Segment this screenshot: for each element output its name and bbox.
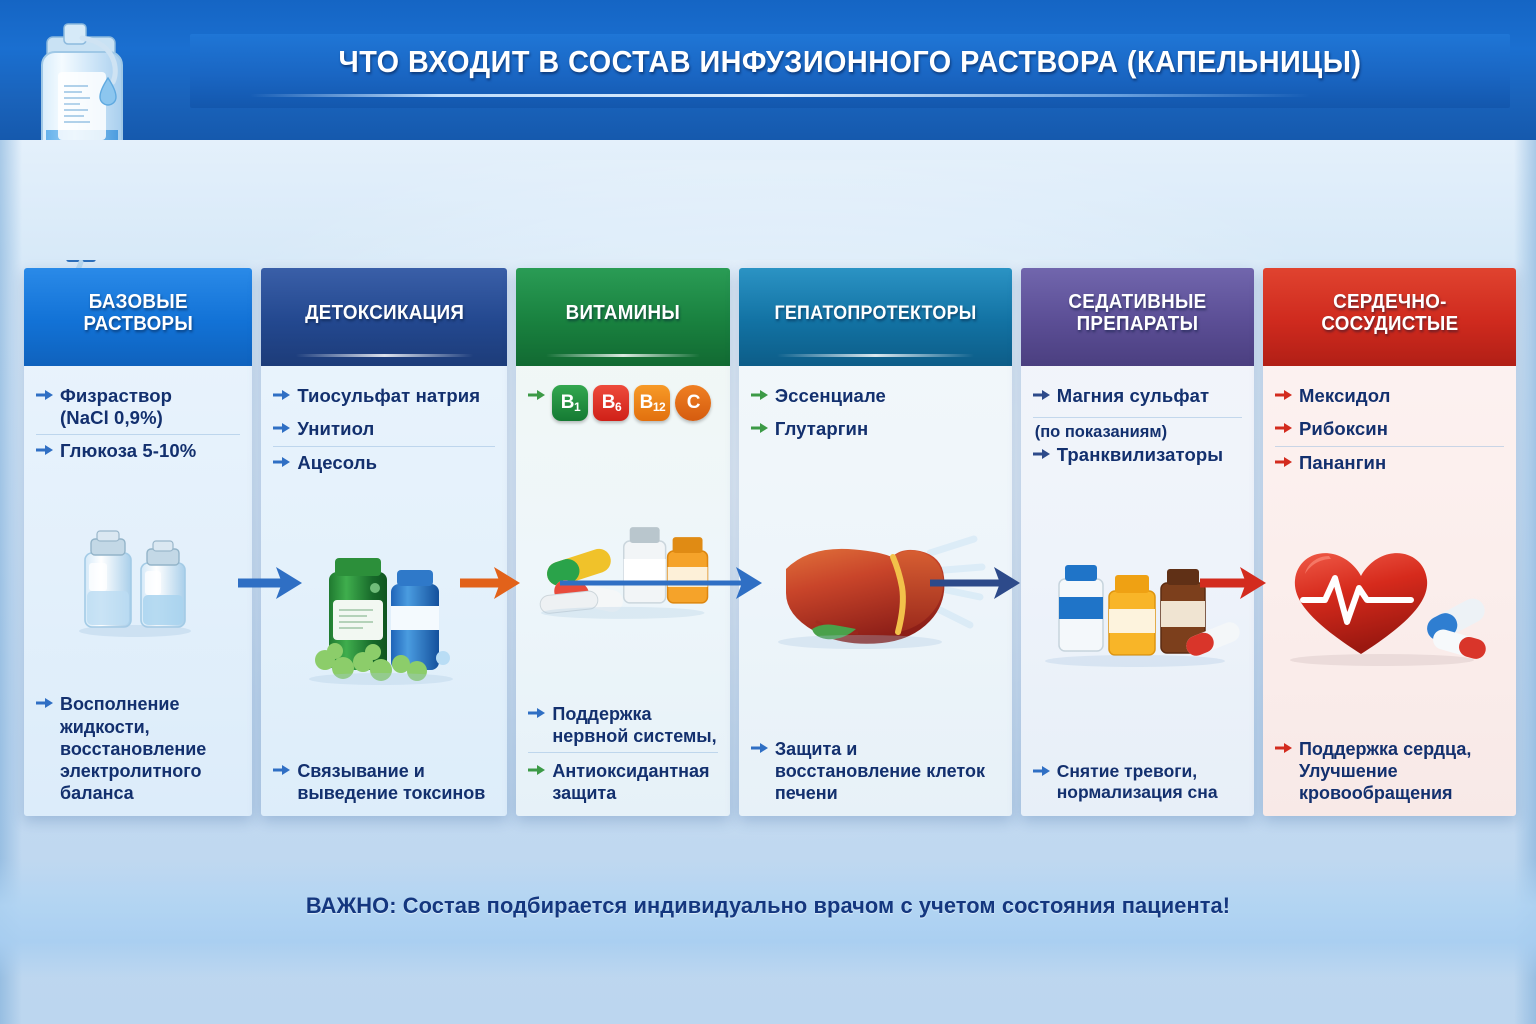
column-header-base-solutions: БАЗОВЫЕ РАСТВОРЫ	[24, 268, 252, 366]
page-title: ЧТО ВХОДИТ В СОСТАВ ИНФУЗИОННОГО РАСТВОР…	[236, 34, 1464, 90]
column-header-detoxification: ДЕТОКСИКАЦИЯ	[261, 268, 507, 366]
header-title-plate: ЧТО ВХОДИТ В СОСТАВ ИНФУЗИОННОГО РАСТВОР…	[190, 34, 1510, 108]
benefit-label: Поддержка нервной системы,	[552, 703, 717, 747]
column-hepatoprotectors[interactable]: ГЕПАТОПРОТЕКТОРЫ Эссенциале Глутаргин	[739, 268, 1012, 816]
benefit-row: Поддержка сердца, Улучшение кровообращен…	[1275, 734, 1504, 804]
benefit-label: Восполнение жидкости, восстановление эле…	[60, 693, 240, 804]
column-title: ГЕПАТОПРОТЕКТОРЫ	[774, 304, 976, 325]
benefit-label: Антиоксидантная защита	[552, 760, 717, 804]
header-underline	[296, 354, 473, 357]
vitamin-badge-c[interactable]: C	[675, 385, 711, 421]
list-item-label: Глюкоза 5-10%	[60, 440, 196, 462]
benefit-row: Связывание и выведение токсинов	[273, 756, 495, 804]
heart-ecg-icon	[1275, 480, 1504, 734]
iv-bottles-icon	[36, 468, 240, 689]
column-header-vitamins: ВИТАМИНЫ	[516, 268, 729, 366]
list-item[interactable]: Рибоксин	[1275, 413, 1504, 446]
vitamin-badge-b12[interactable]: B12	[634, 385, 670, 421]
column-cardiovascular[interactable]: СЕРДЕЧНО- СОСУДИСТЫЕ Мексидол Рибоксин	[1263, 268, 1516, 816]
vitamin-badge-b1[interactable]: B1	[552, 385, 588, 421]
divider	[1033, 417, 1242, 418]
benefit-row: Восполнение жидкости, восстановление эле…	[36, 689, 240, 804]
benefit-row: Поддержка нервной системы,	[528, 699, 717, 747]
vitamin-badge-sub: 1	[574, 400, 580, 414]
list-item[interactable]: Мексидол	[1275, 380, 1504, 413]
detox-bottles-icon	[273, 480, 495, 756]
vitamin-badge-letter: C	[687, 392, 700, 414]
arrow-right-icon	[273, 455, 290, 474]
vitamin-badge-b6[interactable]: B6	[593, 385, 629, 421]
column-body-vitamins: B1 B6 B12 C	[516, 366, 729, 816]
capsules-and-bottles-icon	[528, 427, 717, 699]
arrow-right-icon	[528, 706, 545, 725]
list-item-label: Физраствор (NaCl 0,9%)	[60, 385, 172, 428]
benefit-label: Защита и восстановление клеток печени	[775, 738, 1000, 804]
arrow-right-icon	[751, 388, 768, 407]
benefit-row: Защита и восстановление клеток печени	[751, 734, 1000, 804]
arrow-right-icon	[1033, 388, 1050, 407]
list-item[interactable]: Транквилизаторы	[1033, 444, 1242, 472]
vitamin-badge-sub: 6	[615, 400, 621, 414]
list-item[interactable]: Физраствор (NaCl 0,9%)	[36, 380, 240, 434]
header-fade-band	[0, 140, 1536, 260]
list-item-label: Тиосульфат натрия	[297, 385, 480, 407]
liver-icon	[751, 446, 1000, 734]
list-item[interactable]: Тиосульфат натрия	[273, 380, 495, 413]
list-item[interactable]: Унитиол	[273, 413, 495, 446]
arrow-right-icon	[273, 421, 290, 440]
column-title: БАЗОВЫЕ РАСТВОРЫ	[83, 292, 193, 335]
arrow-right-icon	[36, 388, 53, 407]
arrow-right-icon	[36, 696, 53, 715]
benefit-label: Снятие тревоги, нормализация сна	[1057, 761, 1242, 804]
column-sedatives[interactable]: СЕДАТИВНЫЕ ПРЕПАРАТЫ Магния сульфат (по …	[1021, 268, 1254, 816]
category-columns: БАЗОВЫЕ РАСТВОРЫ Физраствор (NaCl 0,9%) …	[24, 268, 1516, 816]
list-item-label: Панангин	[1299, 452, 1386, 474]
footer-note: ВАЖНО: Состав подбирается индивидуально …	[23, 893, 1513, 919]
header-underline	[777, 354, 973, 357]
arrow-right-icon	[751, 741, 768, 760]
arrow-right-icon	[751, 421, 768, 440]
benefit-row: Антиоксидантная защита	[528, 752, 717, 804]
vitamin-badges-row[interactable]: B1 B6 B12 C	[528, 380, 717, 427]
vitamin-badge-letter: B	[640, 392, 653, 414]
column-title: ВИТАМИНЫ	[566, 303, 680, 325]
infographic-stage: ЧТО ВХОДИТ В СОСТАВ ИНФУЗИОННОГО РАСТВОР…	[0, 0, 1536, 1024]
arrow-right-icon	[1275, 421, 1292, 440]
column-title: ДЕТОКСИКАЦИЯ	[305, 303, 464, 325]
vitamin-badge-letter: B	[561, 392, 574, 414]
list-item-label: Мексидол	[1299, 385, 1391, 407]
list-item-label: Глутаргин	[775, 418, 868, 440]
arrow-right-icon	[1275, 741, 1292, 760]
arrow-right-icon	[1275, 455, 1292, 474]
arrow-right-icon	[1033, 764, 1050, 783]
list-item-label: Транквилизаторы	[1057, 444, 1223, 466]
column-header-hepatoprotectors: ГЕПАТОПРОТЕКТОРЫ	[739, 268, 1012, 366]
arrow-right-icon	[273, 388, 290, 407]
sedatives-note: (по показаниям)	[1033, 421, 1242, 444]
list-item[interactable]: Магния сульфат	[1033, 380, 1242, 413]
benefit-label: Связывание и выведение токсинов	[297, 760, 495, 804]
arrow-right-icon	[1033, 447, 1050, 466]
column-body-sedatives: Магния сульфат (по показаниям) Транквили…	[1021, 366, 1254, 816]
list-item-label: Рибоксин	[1299, 418, 1388, 440]
column-title: СЕДАТИВНЫЕ ПРЕПАРАТЫ	[1068, 292, 1206, 335]
pill-bottles-icon	[1033, 472, 1242, 757]
arrow-right-icon	[36, 443, 53, 462]
arrow-right-icon	[528, 763, 545, 782]
vitamin-badge-sub: 12	[653, 400, 665, 414]
benefit-label: Поддержка сердца, Улучшение кровообращен…	[1299, 738, 1504, 804]
list-item-label: Магния сульфат	[1057, 385, 1210, 407]
list-item[interactable]: Эссенциале	[751, 380, 1000, 413]
column-header-sedatives: СЕДАТИВНЫЕ ПРЕПАРАТЫ	[1021, 268, 1254, 366]
column-body-cardiovascular: Мексидол Рибоксин Панангин	[1263, 366, 1516, 816]
list-item[interactable]: Глутаргин	[751, 413, 1000, 446]
header-underline	[546, 354, 700, 357]
list-item[interactable]: Глюкоза 5-10%	[36, 434, 240, 468]
list-item-label: Унитиол	[297, 418, 374, 440]
arrow-right-icon	[273, 763, 290, 782]
header-underline	[250, 94, 1310, 97]
column-header-cardiovascular: СЕРДЕЧНО- СОСУДИСТЫЕ	[1263, 268, 1516, 366]
vitamin-badge-letter: B	[602, 392, 615, 414]
arrow-right-icon	[1275, 388, 1292, 407]
list-item[interactable]: Ацесоль	[273, 446, 495, 480]
column-title: СЕРДЕЧНО- СОСУДИСТЫЕ	[1321, 292, 1458, 335]
benefit-row: Снятие тревоги, нормализация сна	[1033, 757, 1242, 804]
header-band: ЧТО ВХОДИТ В СОСТАВ ИНФУЗИОННОГО РАСТВОР…	[0, 0, 1536, 140]
list-item-label: Эссенциале	[775, 385, 886, 407]
column-body-detoxification: Тиосульфат натрия Унитиол Ацесоль	[261, 366, 507, 816]
column-detoxification[interactable]: ДЕТОКСИКАЦИЯ Тиосульфат натрия Унитиол	[261, 268, 507, 816]
list-item[interactable]: Панангин	[1275, 446, 1504, 480]
column-base-solutions[interactable]: БАЗОВЫЕ РАСТВОРЫ Физраствор (NaCl 0,9%) …	[24, 268, 252, 816]
list-item-label: Ацесоль	[297, 452, 377, 474]
column-vitamins[interactable]: ВИТАМИНЫ B1 B6	[516, 268, 729, 816]
column-body-hepatoprotectors: Эссенциале Глутаргин	[739, 366, 1012, 816]
column-body-base-solutions: Физраствор (NaCl 0,9%) Глюкоза 5-10%	[24, 366, 252, 816]
arrow-right-icon	[528, 388, 545, 407]
